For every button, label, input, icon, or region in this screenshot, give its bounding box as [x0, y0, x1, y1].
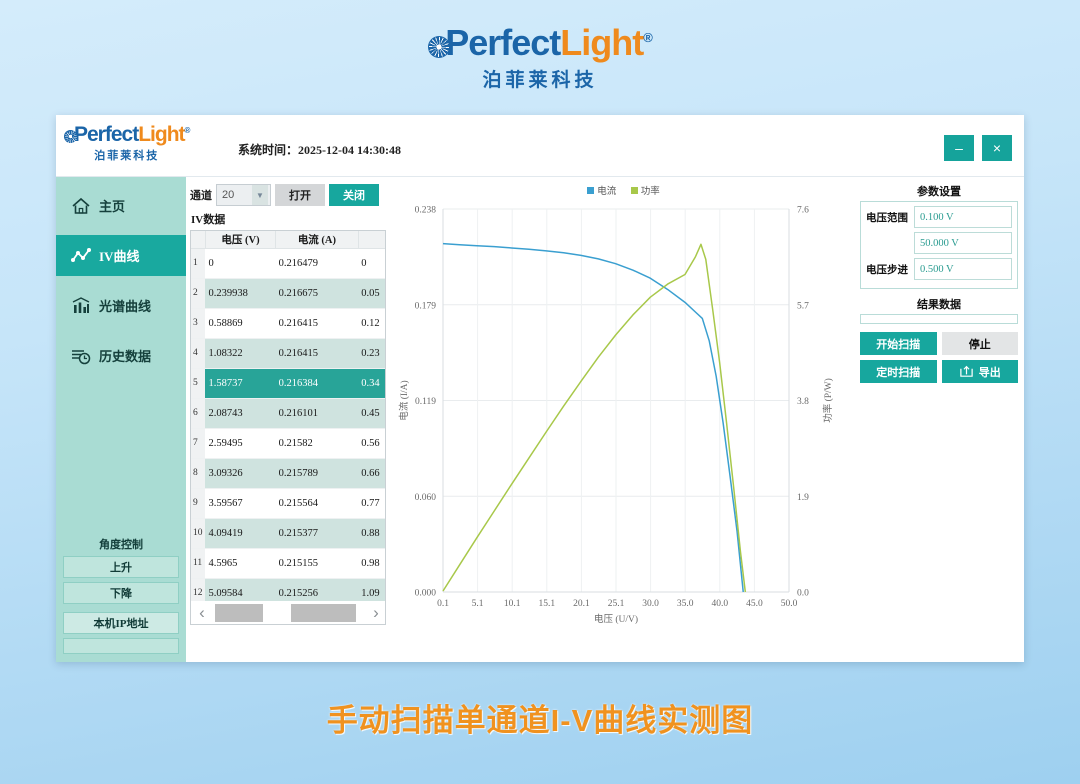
- cell-i: 0.216101: [276, 398, 359, 428]
- y-tick-label: 0.119: [415, 397, 436, 407]
- x-axis-label: 电压 (U/V): [594, 613, 638, 625]
- cell-p: 0.12: [358, 308, 386, 338]
- y-tick-label: 0.060: [415, 493, 437, 503]
- voltage-range-row-min: 电压范围 0.100 V: [866, 206, 1012, 228]
- sidebar-item-iv-curve-label: IV曲线: [99, 246, 139, 265]
- cell-p: 0.88: [358, 518, 386, 548]
- app-brand-wordmark: PerfectLight®: [64, 119, 189, 147]
- cell-idx: 9: [191, 488, 205, 518]
- cell-v: 2.59495: [205, 428, 275, 458]
- column-header-current: 电流 (A): [276, 231, 359, 248]
- column-header-power: [358, 231, 386, 248]
- window-body: 主页 IV曲线 光谱曲线 历史数据 角度控: [56, 177, 1024, 662]
- cell-p: 0.56: [358, 428, 386, 458]
- table-row[interactable]: 62.087430.2161010.45: [191, 398, 386, 428]
- system-time-value: 2025-12-04 14:30:48: [298, 143, 401, 157]
- cell-p: 0.66: [358, 458, 386, 488]
- column-header-voltage: 电压 (V): [205, 231, 275, 248]
- cell-i: 0.215377: [276, 518, 359, 548]
- table-row[interactable]: 93.595670.2155640.77: [191, 488, 386, 518]
- export-button[interactable]: 导出: [942, 360, 1019, 383]
- cell-v: 4.5965: [205, 548, 275, 578]
- cell-i: 0.216415: [276, 338, 359, 368]
- voltage-range-label: 电压范围: [866, 210, 914, 225]
- system-time-label: 系统时间：: [238, 143, 298, 157]
- cell-i: 0.215789: [276, 458, 359, 488]
- scrollbar-track[interactable]: [213, 604, 365, 622]
- table-row[interactable]: 51.587370.2163840.34: [191, 368, 386, 398]
- cell-idx: 5: [191, 368, 205, 398]
- channel-toolbar: 通道 20 ▼ 打开 关闭: [190, 183, 391, 207]
- stop-button[interactable]: 停止: [942, 332, 1019, 355]
- series-line-power: [443, 244, 745, 592]
- right-panel: 参数设置 电压范围 0.100 V 50.000 V 电压步进 0.500 V …: [856, 177, 1024, 662]
- brand-perfect: Perfect: [445, 22, 560, 63]
- table-header: 电压 (V) 电流 (A): [191, 231, 386, 248]
- y-tick-label: 0.179: [415, 301, 437, 311]
- x-tick-label: 30.0: [642, 599, 659, 609]
- results-section: 结果数据: [860, 296, 1018, 324]
- table-row[interactable]: 104.094190.2153770.88: [191, 518, 386, 548]
- cell-i: 0.215155: [276, 548, 359, 578]
- iv-data-panel: 通道 20 ▼ 打开 关闭 IV数据 电压 (V) 电流 (A): [186, 177, 391, 662]
- x-tick-label: 5.1: [472, 599, 484, 609]
- cell-p: 0.77: [358, 488, 386, 518]
- window-controls: – ×: [944, 135, 1012, 161]
- cell-v: 0.239938: [205, 278, 275, 308]
- angle-control-title: 角度控制: [63, 536, 179, 552]
- cell-v: 3.59567: [205, 488, 275, 518]
- iv-data-table-container[interactable]: 电压 (V) 电流 (A) 100.216479020.2399380.2166…: [190, 230, 386, 625]
- x-tick-label: 35.0: [677, 599, 694, 609]
- scroll-left-icon[interactable]: ‹: [191, 603, 213, 623]
- iv-chart-panel: 电流 功率 0.0000.0600.1190.1790.2380.01.93.8…: [391, 177, 856, 662]
- x-tick-label: 50.0: [781, 599, 798, 609]
- column-header-index: [191, 231, 205, 248]
- sidebar-item-spectrum-curve[interactable]: 光谱曲线: [56, 285, 186, 326]
- cell-v: 4.09419: [205, 518, 275, 548]
- voltage-min-input[interactable]: 0.100 V: [914, 206, 1012, 228]
- x-tick-label: 45.0: [746, 599, 763, 609]
- table-horizontal-scrollbar[interactable]: ‹ ›: [191, 601, 386, 625]
- cell-i: 0.216479: [276, 248, 359, 278]
- app-brand-light: Light: [138, 123, 184, 146]
- cell-v: 0: [205, 248, 275, 278]
- settings-title: 参数设置: [860, 183, 1018, 199]
- cell-p: 0.98: [358, 548, 386, 578]
- y-axis-label: 电流 (I/A): [398, 380, 410, 420]
- figure-caption: 手动扫描单通道I-V曲线实测图: [0, 695, 1080, 740]
- cell-idx: 7: [191, 428, 205, 458]
- sidebar-item-history-data[interactable]: 历史数据: [56, 335, 186, 376]
- cell-idx: 3: [191, 308, 205, 338]
- local-ip-value-field[interactable]: [63, 638, 179, 654]
- timed-scan-button[interactable]: 定时扫描: [860, 360, 937, 383]
- close-channel-button[interactable]: 关闭: [329, 184, 379, 206]
- cell-v: 3.09326: [205, 458, 275, 488]
- cell-p: 0.23: [358, 338, 386, 368]
- cell-idx: 1: [191, 248, 205, 278]
- cell-p: 0.05: [358, 278, 386, 308]
- page-brand-logo: PerfectLight® 泊菲莱科技: [0, 18, 1080, 92]
- table-row[interactable]: 72.594950.215820.56: [191, 428, 386, 458]
- history-icon: [70, 346, 92, 366]
- app-brand-chinese: 泊菲莱科技: [64, 147, 189, 163]
- y-tick-label: 0.238: [415, 206, 437, 216]
- channel-select-value: 20: [222, 189, 234, 201]
- cell-idx: 6: [191, 398, 205, 428]
- bar-chart-icon: [70, 296, 92, 316]
- y-tick-label: 0.000: [415, 589, 437, 599]
- iv-chart-svg[interactable]: 0.0000.0600.1190.1790.2380.01.93.85.77.6…: [391, 177, 856, 662]
- y2-tick-label: 5.7: [797, 301, 809, 311]
- y2-tick-label: 1.9: [797, 493, 809, 503]
- cell-v: 1.08322: [205, 338, 275, 368]
- table-row[interactable]: 41.083220.2164150.23: [191, 338, 386, 368]
- app-logo: PerfectLight® 泊菲莱科技: [64, 119, 189, 163]
- cell-i: 0.216415: [276, 308, 359, 338]
- scrollbar-thumb-2[interactable]: [291, 604, 356, 622]
- sidebar-bottom-controls: 角度控制 上升 下降 本机IP地址: [63, 536, 179, 654]
- cell-v: 2.08743: [205, 398, 275, 428]
- cell-idx: 8: [191, 458, 205, 488]
- system-time: 系统时间：2025-12-04 14:30:48: [238, 141, 401, 158]
- x-tick-label: 15.1: [538, 599, 555, 609]
- voltage-step-input[interactable]: 0.500 V: [914, 258, 1012, 280]
- cell-v: 1.58737: [205, 368, 275, 398]
- settings-box: 电压范围 0.100 V 50.000 V 电压步进 0.500 V: [860, 201, 1018, 289]
- sidebar-item-home-label: 主页: [99, 196, 125, 215]
- chevron-down-icon: ▼: [252, 185, 268, 205]
- registered-mark: ®: [185, 126, 190, 135]
- brand-chinese: 泊菲莱科技: [0, 65, 1080, 92]
- y2-tick-label: 0.0: [797, 589, 809, 599]
- voltage-step-label: 电压步进: [866, 262, 914, 277]
- voltage-max-input[interactable]: 50.000 V: [914, 232, 1012, 254]
- cell-idx: 11: [191, 548, 205, 578]
- window-titlebar: PerfectLight® 泊菲莱科技 系统时间：2025-12-04 14:3…: [56, 115, 1024, 177]
- application-window: PerfectLight® 泊菲莱科技 系统时间：2025-12-04 14:3…: [56, 115, 1024, 662]
- x-tick-label: 10.1: [504, 599, 521, 609]
- home-icon: [70, 196, 92, 216]
- sidebar-item-iv-curve[interactable]: IV曲线: [56, 235, 186, 276]
- table-body: 100.216479020.2399380.2166750.0530.58869…: [191, 248, 386, 625]
- table-row[interactable]: 100.2164790: [191, 248, 386, 278]
- brand-light: Light: [560, 22, 643, 63]
- channel-label: 通道: [190, 187, 212, 203]
- brand-wordmark: PerfectLight®: [428, 18, 652, 63]
- voltage-range-row-max: 50.000 V: [866, 232, 1012, 254]
- series-line-current: [443, 244, 743, 592]
- close-button[interactable]: ×: [982, 135, 1012, 161]
- y2-tick-label: 7.6: [797, 206, 809, 216]
- x-tick-label: 0.1: [437, 599, 449, 609]
- sunburst-icon: [64, 130, 77, 143]
- cell-i: 0.216675: [276, 278, 359, 308]
- sidebar-item-spectrum-curve-label: 光谱曲线: [99, 296, 151, 315]
- minimize-button[interactable]: –: [944, 135, 974, 161]
- cell-i: 0.216384: [276, 368, 359, 398]
- angle-down-button[interactable]: 下降: [63, 582, 179, 604]
- action-buttons: 开始扫描 停止 定时扫描 导出: [860, 332, 1018, 383]
- iv-data-table: 电压 (V) 电流 (A) 100.216479020.2399380.2166…: [191, 231, 386, 625]
- sidebar: 主页 IV曲线 光谱曲线 历史数据 角度控: [56, 177, 186, 662]
- x-tick-label: 20.1: [573, 599, 590, 609]
- cell-i: 0.21582: [276, 428, 359, 458]
- cell-p: 0.34: [358, 368, 386, 398]
- app-brand-perfect: Perfect: [74, 123, 138, 146]
- start-scan-button[interactable]: 开始扫描: [860, 332, 937, 355]
- cell-p: 0: [358, 248, 386, 278]
- line-chart-icon: [70, 246, 92, 266]
- cell-v: 0.58869: [205, 308, 275, 338]
- scroll-right-icon[interactable]: ›: [365, 603, 386, 623]
- cell-idx: 2: [191, 278, 205, 308]
- iv-data-title: IV数据: [191, 211, 391, 227]
- registered-mark: ®: [643, 30, 652, 45]
- x-tick-label: 25.1: [608, 599, 625, 609]
- sidebar-item-history-data-label: 历史数据: [99, 346, 151, 365]
- table-row[interactable]: 114.59650.2151550.98: [191, 548, 386, 578]
- scrollbar-thumb-1[interactable]: [215, 604, 263, 622]
- table-row[interactable]: 20.2399380.2166750.05: [191, 278, 386, 308]
- y2-axis-label: 功率 (P/W): [822, 378, 834, 423]
- results-box: [860, 314, 1018, 324]
- cell-i: 0.215564: [276, 488, 359, 518]
- cell-p: 0.45: [358, 398, 386, 428]
- table-row[interactable]: 83.093260.2157890.66: [191, 458, 386, 488]
- export-icon: [959, 364, 974, 379]
- cell-idx: 10: [191, 518, 205, 548]
- y2-tick-label: 3.8: [797, 397, 809, 407]
- results-title: 结果数据: [860, 296, 1018, 312]
- channel-select[interactable]: 20 ▼: [216, 184, 271, 206]
- sidebar-item-home[interactable]: 主页: [56, 185, 186, 226]
- voltage-step-row: 电压步进 0.500 V: [866, 258, 1012, 280]
- angle-up-button[interactable]: 上升: [63, 556, 179, 578]
- export-label: 导出: [979, 364, 1001, 380]
- cell-idx: 4: [191, 338, 205, 368]
- table-row[interactable]: 30.588690.2164150.12: [191, 308, 386, 338]
- open-button[interactable]: 打开: [275, 184, 325, 206]
- x-tick-label: 40.0: [711, 599, 728, 609]
- local-ip-button[interactable]: 本机IP地址: [63, 612, 179, 634]
- table-header-row: 电压 (V) 电流 (A): [191, 231, 386, 248]
